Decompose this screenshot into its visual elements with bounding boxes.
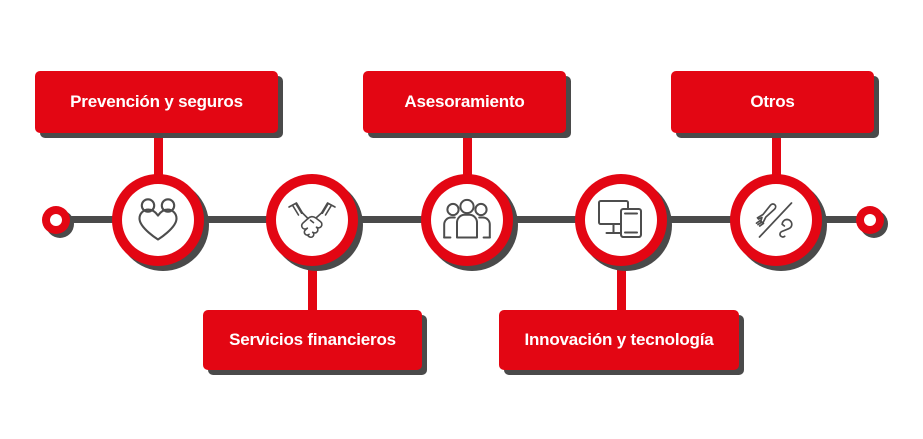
family-heart-icon — [133, 197, 183, 243]
handshake-icon — [286, 198, 338, 242]
right-endpoint-hole — [864, 214, 876, 226]
callout-label: Asesoramiento — [390, 92, 538, 112]
node-face — [585, 184, 657, 256]
callout-label: Prevención y seguros — [56, 92, 257, 112]
infographic-canvas: Prevención y seguros Servicios financier… — [0, 0, 923, 439]
node-otros[interactable] — [730, 174, 822, 266]
node-face — [276, 184, 348, 256]
node-servicios-financieros[interactable] — [266, 174, 358, 266]
callout-innovacion-y-tecnologia[interactable]: Innovación y tecnología — [499, 310, 739, 370]
callout-label: Otros — [736, 92, 808, 112]
callout-label: Innovación y tecnología — [510, 330, 727, 350]
callout-servicios-financieros[interactable]: Servicios financieros — [203, 310, 422, 370]
callout-prevencion-y-seguros[interactable]: Prevención y seguros — [35, 71, 278, 133]
people-group-icon — [442, 198, 492, 242]
left-endpoint-hole — [50, 214, 62, 226]
right-endpoint — [856, 206, 884, 234]
node-face — [740, 184, 812, 256]
callout-asesoramiento[interactable]: Asesoramiento — [363, 71, 566, 133]
callout-body: Prevención y seguros — [35, 71, 278, 133]
callout-body: Servicios financieros — [203, 310, 422, 370]
node-prevencion-y-seguros[interactable] — [112, 174, 204, 266]
node-asesoramiento[interactable] — [421, 174, 513, 266]
callout-body: Innovación y tecnología — [499, 310, 739, 370]
node-innovacion-y-tecnologia[interactable] — [575, 174, 667, 266]
plane-phone-icon — [751, 197, 801, 243]
callout-body: Otros — [671, 71, 874, 133]
left-endpoint — [42, 206, 70, 234]
node-face — [431, 184, 503, 256]
node-face — [122, 184, 194, 256]
callout-body: Asesoramiento — [363, 71, 566, 133]
devices-screen-icon — [597, 198, 645, 242]
callout-label: Servicios financieros — [215, 330, 410, 350]
callout-otros[interactable]: Otros — [671, 71, 874, 133]
